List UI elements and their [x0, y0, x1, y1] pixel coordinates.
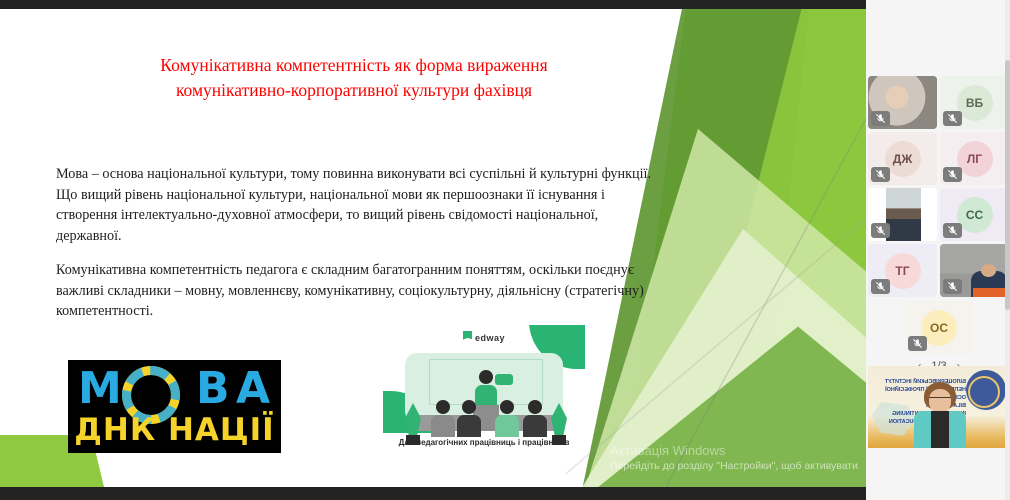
mic-muted-icon: [943, 279, 962, 294]
mic-muted-icon: [871, 223, 890, 238]
participants-panel[interactable]: ВБ ДЖ ЛГ: [866, 0, 1010, 500]
participant-tile-th[interactable]: ТГ: [868, 244, 937, 297]
presenter-video-tile[interactable]: БІЛОЦЕРКІВСЬКИЙ ІНСТИТУТ НЕПЕРЕРВНОЇ ПРО…: [868, 366, 1008, 448]
presenter-person: [912, 382, 968, 448]
edway-figure-3: [495, 400, 519, 437]
mic-muted-icon: [943, 167, 962, 182]
edway-flag-icon: [463, 331, 472, 342]
participant-row: ВБ: [868, 76, 1010, 129]
slide-title-line-1: Комунікативна компетентність як форма ви…: [84, 53, 624, 78]
slide-paragraph-2: Комунікативна компетентність педагога є …: [56, 260, 656, 322]
bottom-letterbox-bar: [0, 487, 866, 500]
slide-title: Комунікативна компетентність як форма ви…: [84, 53, 624, 103]
watermark-line-1: Активація Windows: [610, 443, 858, 459]
edway-brand-label: edway: [475, 333, 505, 343]
watermark-line-2: Перейдіть до розділу "Настройки", щоб ак…: [610, 459, 858, 473]
participant-tile-vb[interactable]: ВБ: [940, 76, 1009, 129]
facet-hairline-1: [666, 9, 866, 487]
mic-muted-icon: [943, 111, 962, 126]
presenter-shirt: [931, 411, 949, 448]
facet-shape-3: [661, 9, 866, 487]
participant-tile-dzh[interactable]: ДЖ: [868, 132, 937, 185]
participant-video: [886, 188, 921, 241]
mic-muted-icon: [943, 223, 962, 238]
mic-muted-icon: [871, 111, 890, 126]
participant-tile-video-2[interactable]: [868, 188, 937, 241]
windows-activation-watermark: Активація Windows Перейдіть до розділу "…: [610, 443, 858, 473]
facet-shape-1: [621, 9, 866, 487]
presenter-glasses-icon: [929, 397, 951, 403]
participant-video-person-accent: [973, 288, 1005, 297]
participant-row: ДЖ ЛГ: [868, 132, 1010, 185]
edway-figure-4: [523, 400, 547, 437]
presentation-slide[interactable]: Комунікативна компетентність як форма ви…: [0, 9, 866, 487]
participant-tile-active-speaker[interactable]: [868, 76, 937, 129]
edway-brand: edway: [383, 331, 585, 343]
participant-tile-video-3[interactable]: [940, 244, 1009, 297]
slide-body: Мова – основа національної культури, том…: [56, 164, 656, 336]
panel-scrollbar[interactable]: [1005, 0, 1010, 500]
participant-video-person-head: [981, 264, 996, 277]
mova-logo-subtitle: ДНК НАЦІЇ: [68, 412, 281, 448]
mova-dnk-natsii-logo: М В А ДНК НАЦІЇ: [68, 360, 281, 453]
mova-letter-m: М: [78, 364, 122, 414]
app-root: Комунікативна компетентність як форма ви…: [0, 0, 1010, 500]
participant-tile-ss[interactable]: СС: [940, 188, 1009, 241]
participant-row-single: ОС: [868, 301, 1010, 354]
shared-screen-region[interactable]: Комунікативна компетентність як форма ви…: [0, 0, 866, 500]
edway-figure-1: [431, 400, 455, 437]
panel-scrollbar-thumb[interactable]: [1005, 60, 1010, 310]
mic-muted-icon: [871, 279, 890, 294]
slide-title-line-2: комунікативно-корпоративної культури фах…: [84, 78, 624, 103]
presenter-banner-emblem-ring: [968, 376, 1000, 408]
edway-figure-2: [457, 400, 481, 437]
participant-grid: ВБ ДЖ ЛГ: [868, 76, 1010, 373]
participant-row: СС: [868, 188, 1010, 241]
mova-word: М В А: [68, 364, 281, 416]
participant-row: ТГ: [868, 244, 1010, 297]
mova-letter-a: А: [236, 364, 270, 414]
edway-speech-bubble: [495, 374, 513, 385]
facet-shape-7: [716, 9, 866, 487]
participant-tile-os[interactable]: ОС: [905, 301, 974, 354]
mic-muted-icon: [871, 167, 890, 182]
edway-caption: Для педагогічних працівниць і працівникі…: [383, 438, 585, 447]
mic-muted-icon: [908, 336, 927, 351]
participant-tile-lh[interactable]: ЛГ: [940, 132, 1009, 185]
edway-illustration: edway: [383, 325, 585, 453]
top-letterbox-bar: [0, 0, 866, 9]
slide-paragraph-1: Мова – основа національної культури, том…: [56, 164, 656, 246]
mova-letter-v: В: [196, 364, 230, 414]
